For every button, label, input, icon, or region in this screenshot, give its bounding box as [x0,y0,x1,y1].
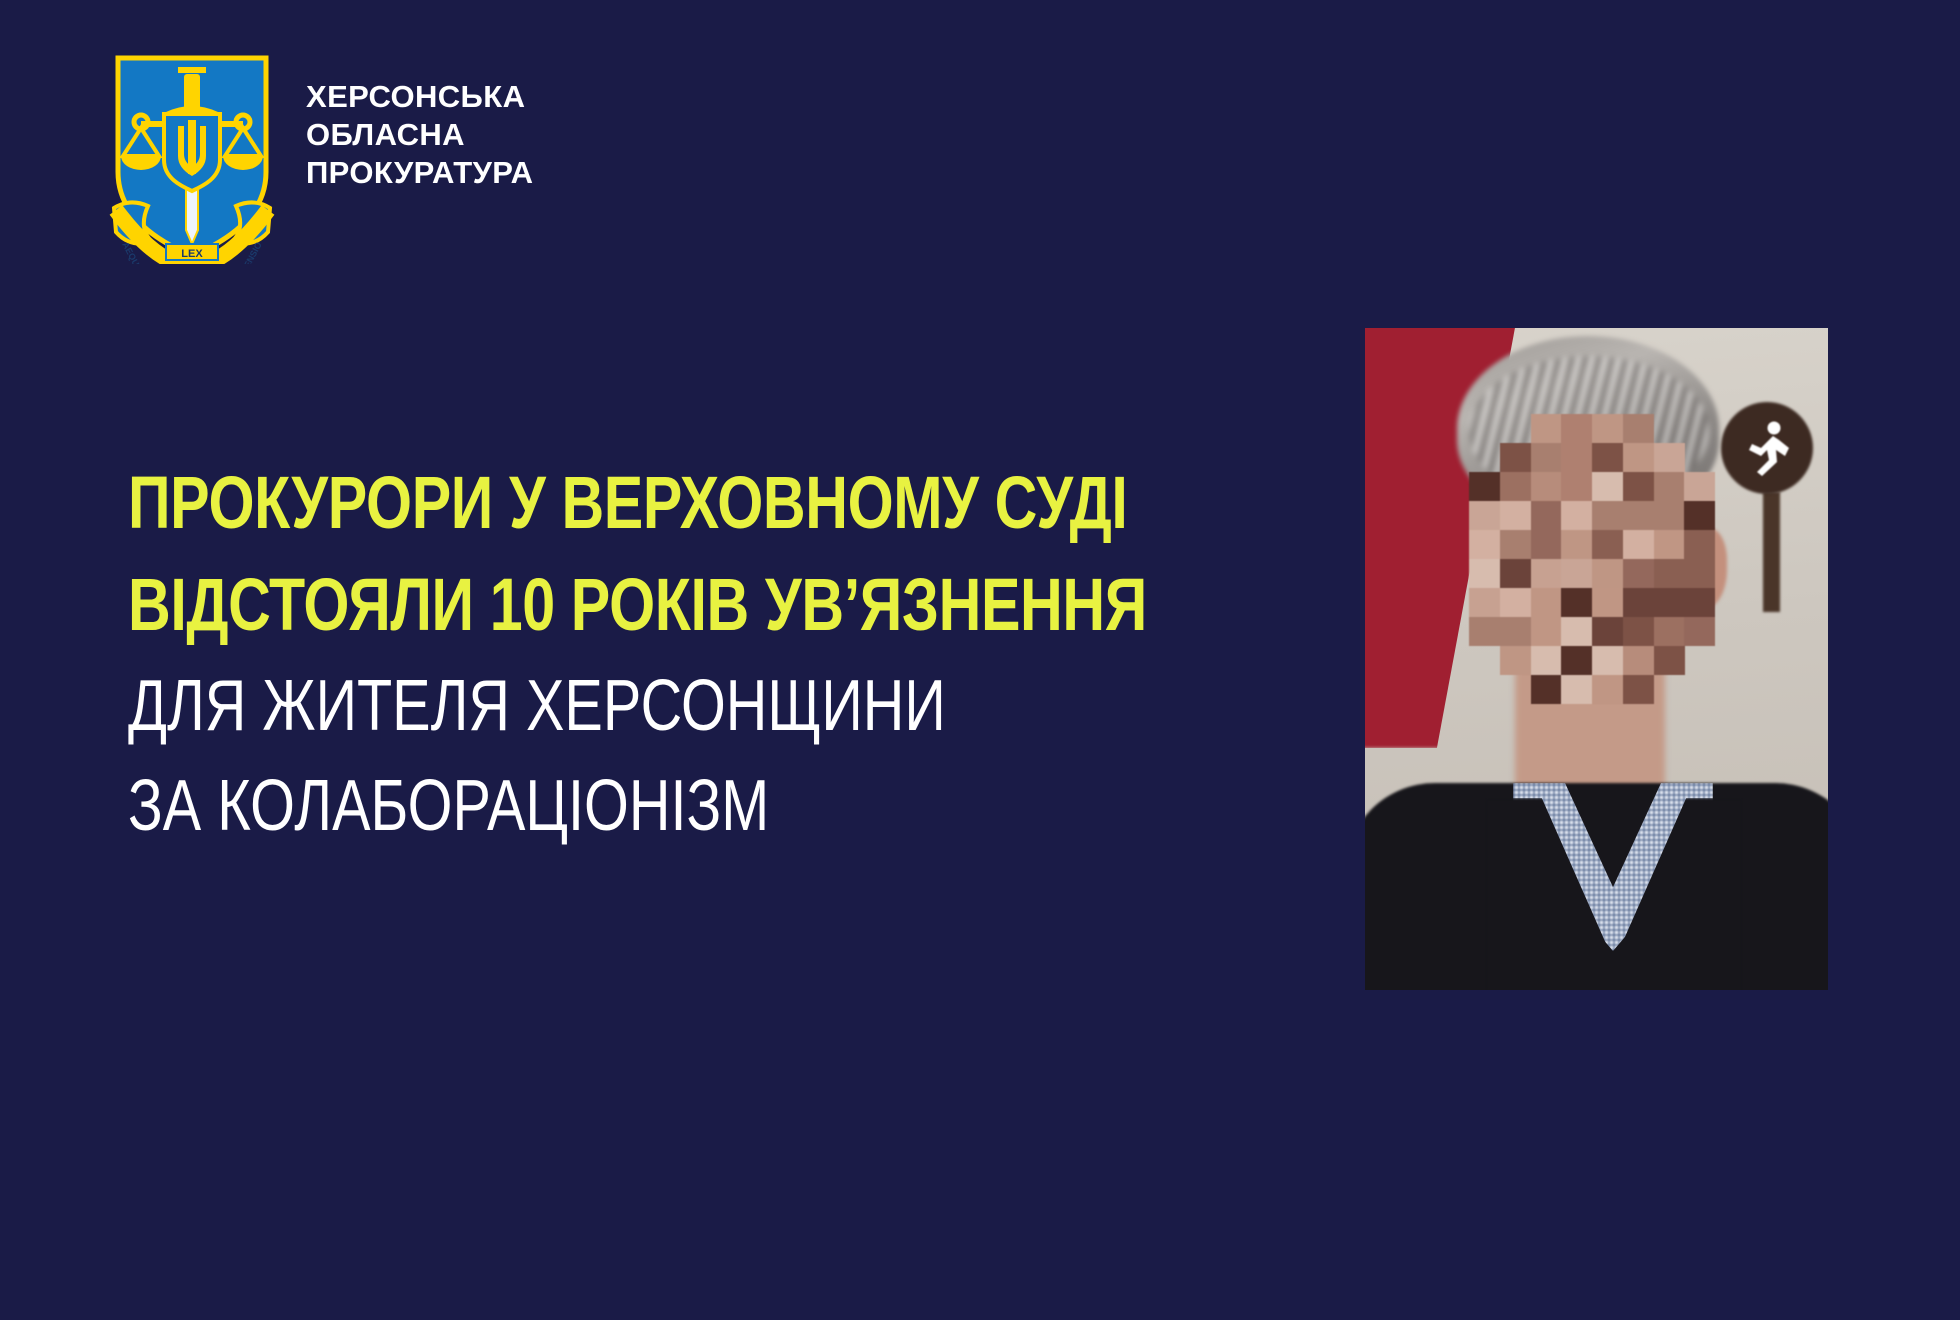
subject-photo [1365,328,1828,990]
org-name-line-3: ПРОКУРАТУРА [306,154,533,192]
pixelated-face [1469,414,1715,704]
running-man-icon [1743,420,1797,478]
prosecutor-office-emblem-icon: LEX AEQUITAS DEFENSIO [108,52,276,264]
emblem-motto-lex: LEX [181,248,203,260]
org-name-line-1: ХЕРСОНСЬКА [306,78,533,116]
exit-sign-post [1763,492,1780,612]
headline-line-4: ЗА КОЛАБОРАЦІОНІЗМ [128,756,1040,856]
headline-line-1: ПРОКУРОРИ У ВЕРХОВНОМУ СУДІ [128,452,1040,554]
branding-block: LEX AEQUITAS DEFENSIO ХЕРСОНСЬКА ОБЛАСНА… [108,52,533,264]
organization-name: ХЕРСОНСЬКА ОБЛАСНА ПРОКУРАТУРА [306,52,533,192]
headline-block: ПРОКУРОРИ У ВЕРХОВНОМУ СУДІ ВІДСТОЯЛИ 10… [128,452,1268,856]
org-name-line-2: ОБЛАСНА [306,116,533,154]
headline-line-3: ДЛЯ ЖИТЕЛЯ ХЕРСОНЩИНИ [128,656,1040,756]
headline-line-2: ВІДСТОЯЛИ 10 РОКІВ УВ’ЯЗНЕННЯ [128,554,1040,656]
poster-canvas: LEX AEQUITAS DEFENSIO ХЕРСОНСЬКА ОБЛАСНА… [0,0,1960,1320]
